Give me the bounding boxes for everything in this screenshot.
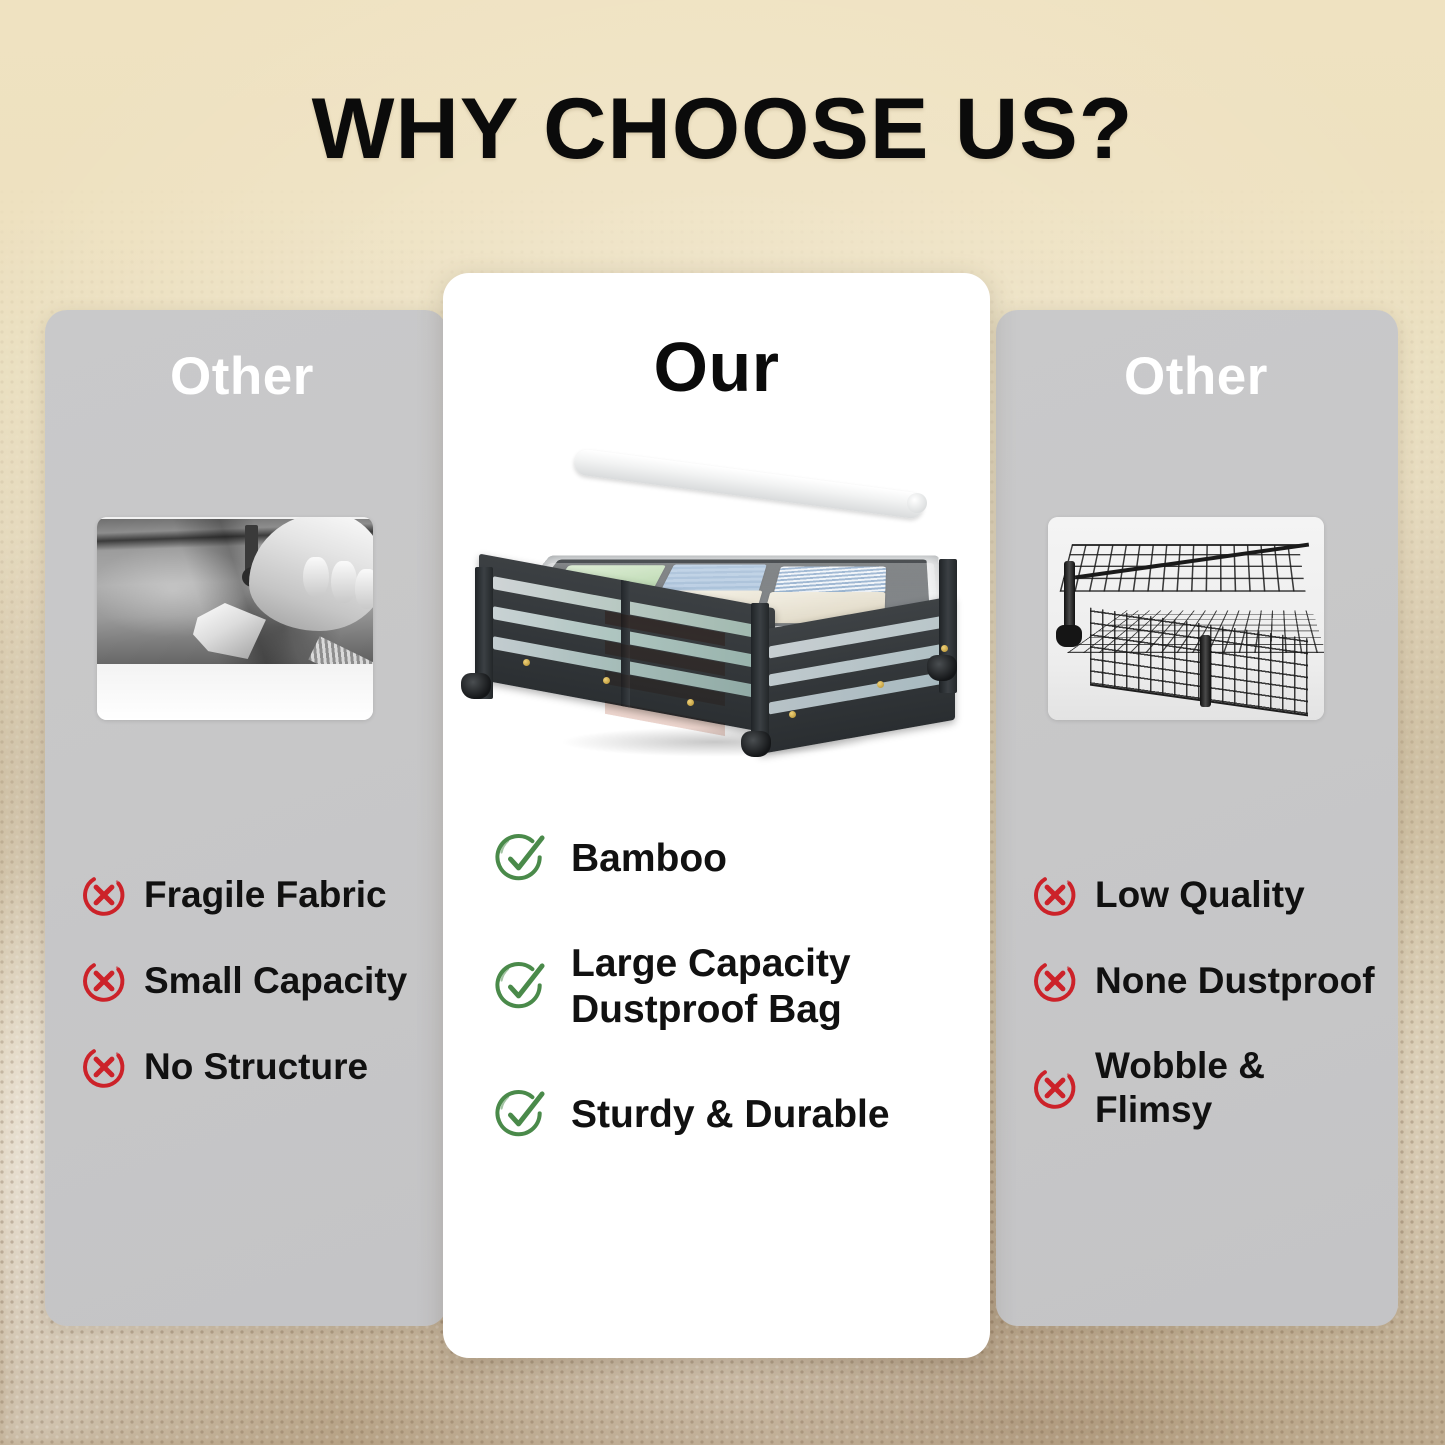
list-item-label: Large Capacity Dustproof Bag — [571, 941, 851, 1033]
center-card-heading: Our — [443, 327, 990, 407]
our-card: Our — [443, 273, 990, 1358]
cross-circle-icon — [81, 872, 127, 918]
cross-circle-icon — [1032, 1065, 1078, 1111]
check-circle-icon — [495, 833, 547, 885]
list-item: Small Capacity — [81, 958, 433, 1004]
list-item: Wobble & Flimsy — [1032, 1044, 1384, 1131]
page-title: WHY CHOOSE US? — [0, 86, 1445, 172]
other-panel-left: Other Fragile Fabric — [45, 310, 447, 1326]
right-panel-feature-list: Low Quality None Dustproof — [1032, 872, 1384, 1171]
list-item: Fragile Fabric — [81, 872, 433, 918]
list-item-label: None Dustproof — [1095, 959, 1375, 1003]
wire-mesh-basket-photo — [1048, 517, 1324, 720]
list-item-label: Low Quality — [1095, 873, 1305, 917]
cross-circle-icon — [1032, 958, 1078, 1004]
list-item-label: Bamboo — [571, 836, 727, 882]
fabric-bag-torn-zipper-photo — [97, 517, 373, 720]
list-item-label: Sturdy & Durable — [571, 1092, 890, 1138]
list-item-label: No Structure — [144, 1045, 368, 1089]
left-panel-feature-list: Fragile Fabric Small Capacity — [81, 872, 433, 1130]
cross-circle-icon — [81, 958, 127, 1004]
check-circle-icon — [495, 1089, 547, 1141]
list-item-label: Wobble & Flimsy — [1095, 1044, 1384, 1131]
list-item: Large Capacity Dustproof Bag — [495, 941, 965, 1033]
cross-circle-icon — [1032, 872, 1078, 918]
under-bed-storage-box-photo — [455, 463, 979, 793]
list-item: No Structure — [81, 1044, 433, 1090]
left-panel-heading: Other — [170, 346, 314, 407]
cross-circle-icon — [81, 1044, 127, 1090]
center-card-feature-list: Bamboo Large Capacity Dustproof Bag St — [495, 833, 965, 1197]
list-item-label: Fragile Fabric — [144, 873, 387, 917]
list-item: Bamboo — [495, 833, 965, 885]
check-circle-icon — [495, 961, 547, 1013]
right-panel-heading: Other — [1124, 346, 1268, 407]
list-item: Low Quality — [1032, 872, 1384, 918]
other-panel-right: Other Low Quality — [996, 310, 1398, 1326]
list-item: Sturdy & Durable — [495, 1089, 965, 1141]
list-item-label: Small Capacity — [144, 959, 407, 1003]
list-item: None Dustproof — [1032, 958, 1384, 1004]
